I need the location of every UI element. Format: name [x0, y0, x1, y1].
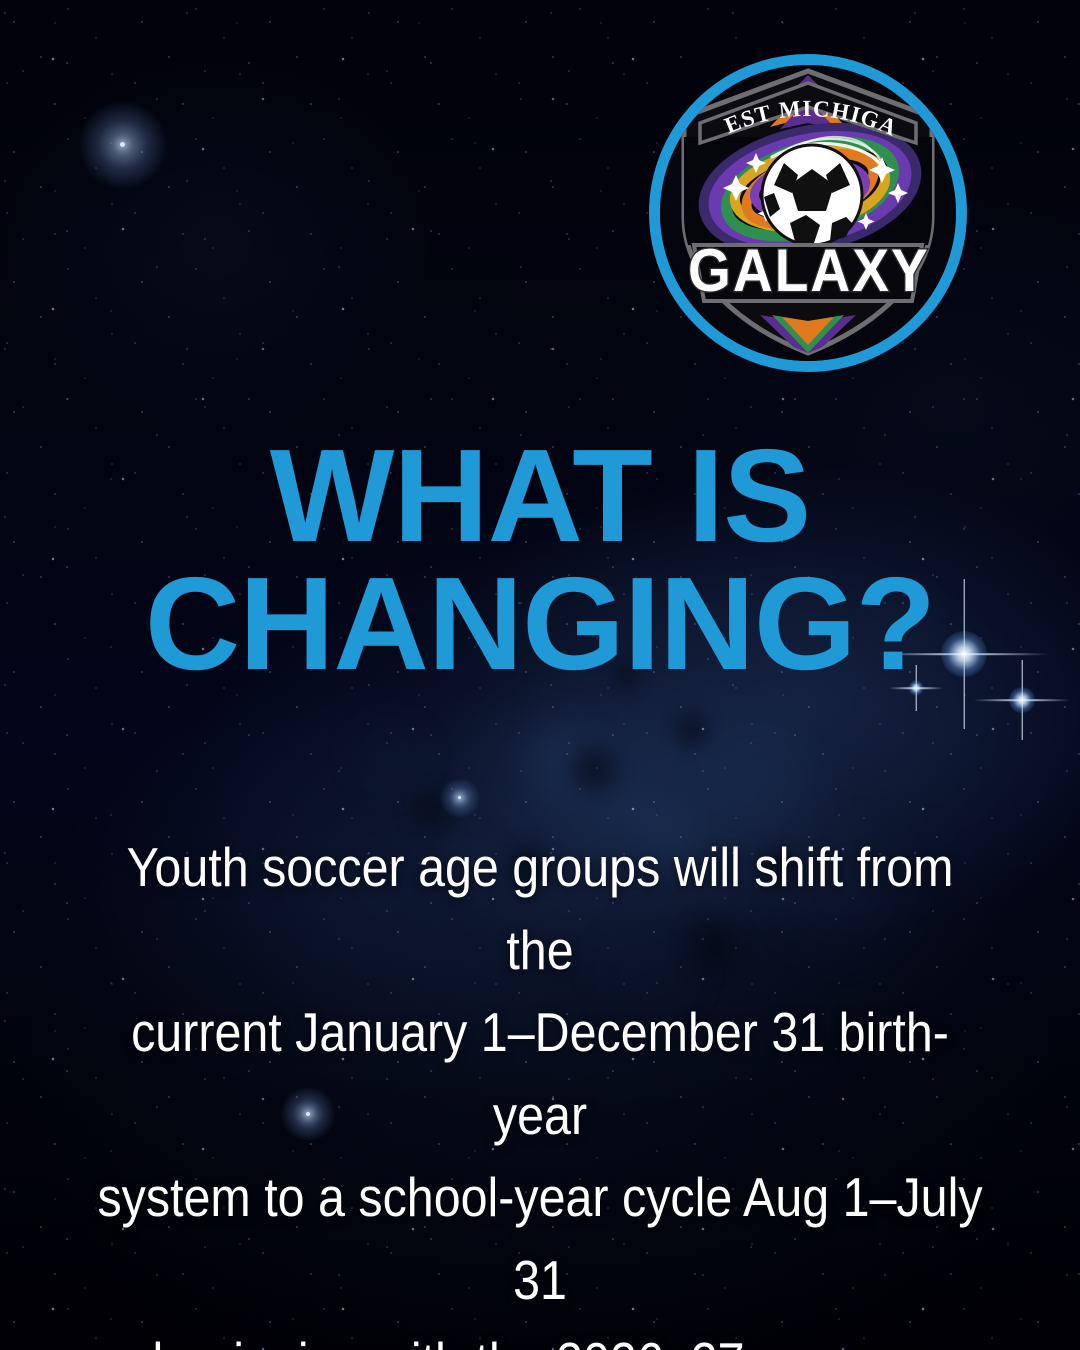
- headline-line-2: CHANGING?: [0, 560, 1080, 688]
- team-logo: WEST MICHIGAN GALAXY: [649, 54, 967, 372]
- logo-crest-svg: WEST MICHIGAN GALAXY: [660, 65, 956, 361]
- glow-star-center: [458, 796, 461, 799]
- page-title: WHAT IS CHANGING?: [0, 432, 1080, 688]
- headline-line-1: WHAT IS: [0, 432, 1080, 560]
- logo-wordmark-text: GALAXY: [688, 238, 930, 305]
- body-paragraph: Youth soccer age groups will shift from …: [88, 826, 993, 1350]
- glow-star-upper-left: [120, 142, 125, 147]
- logo-crest-area: WEST MICHIGAN GALAXY: [660, 65, 956, 361]
- soccer-ball: [762, 145, 862, 245]
- logo-wordmark-plate: GALAXY: [688, 238, 930, 305]
- poster-canvas: WEST MICHIGAN GALAXY WHAT IS CHANGING? Y…: [0, 0, 1080, 1350]
